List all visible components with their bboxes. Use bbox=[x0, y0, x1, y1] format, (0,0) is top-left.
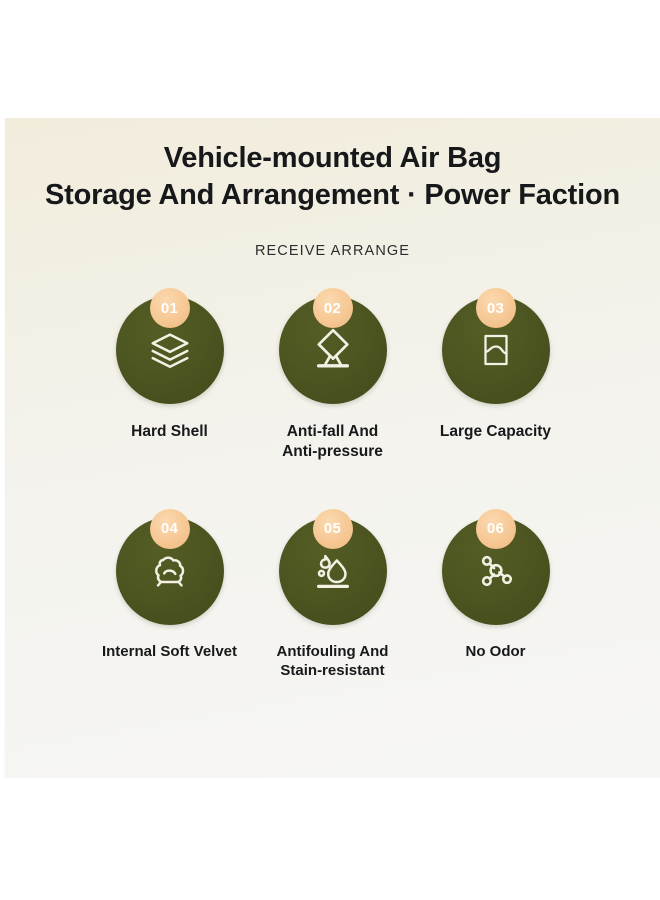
feature-row-1: 01 Hard Shell 02 bbox=[5, 288, 660, 461]
feature-caption: Anti-fall And Anti-pressure bbox=[243, 422, 423, 461]
feature-icon-wrap: 02 bbox=[279, 288, 387, 404]
feature-item-02: 02 Anti-fall And Anti-pressure bbox=[251, 288, 414, 461]
feature-item-04: 04 Internal Soft Velvet bbox=[88, 509, 251, 662]
feature-caption: No Odor bbox=[406, 643, 586, 662]
feature-icon-wrap: 03 bbox=[442, 288, 550, 404]
feature-number-badge: 04 bbox=[150, 509, 190, 549]
feature-number-badge: 01 bbox=[150, 288, 190, 328]
feature-number-badge: 05 bbox=[313, 509, 353, 549]
container-fill-level-icon bbox=[475, 329, 517, 371]
feature-row-2: 04 Internal Soft Velvet bbox=[5, 509, 660, 681]
feature-item-01: 01 Hard Shell bbox=[88, 288, 251, 441]
headline-line-2: Storage And Arrangement · Power Faction bbox=[5, 177, 660, 214]
feature-caption: Large Capacity bbox=[406, 422, 586, 441]
poster-headline: Vehicle-mounted Air Bag Storage And Arra… bbox=[5, 118, 660, 214]
layers-icon bbox=[147, 327, 193, 373]
feature-item-05: 05 Antifouling And Stain-resistant bbox=[251, 509, 414, 681]
molecule-icon bbox=[473, 548, 519, 594]
feature-icon-wrap: 04 bbox=[116, 509, 224, 625]
feature-number-badge: 03 bbox=[476, 288, 516, 328]
feature-grid: 01 Hard Shell 02 bbox=[5, 288, 660, 680]
feature-item-03: 03 Large Capacity bbox=[414, 288, 577, 441]
cloud-soft-icon bbox=[147, 548, 193, 594]
feature-caption: Hard Shell bbox=[80, 422, 260, 441]
feature-icon-wrap: 06 bbox=[442, 509, 550, 625]
headline-line-1: Vehicle-mounted Air Bag bbox=[5, 140, 660, 177]
diamond-on-stand-icon bbox=[310, 327, 356, 373]
feature-caption: Internal Soft Velvet bbox=[80, 643, 260, 662]
product-feature-poster: Vehicle-mounted Air Bag Storage And Arra… bbox=[3, 118, 660, 778]
feature-item-06: 06 No Odor bbox=[414, 509, 577, 662]
feature-number-badge: 02 bbox=[313, 288, 353, 328]
water-droplets-icon bbox=[310, 548, 356, 594]
feature-caption: Antifouling And Stain-resistant bbox=[243, 643, 423, 681]
feature-number-badge: 06 bbox=[476, 509, 516, 549]
feature-icon-wrap: 05 bbox=[279, 509, 387, 625]
poster-subtitle: RECEIVE ARRANGE bbox=[5, 243, 660, 259]
feature-icon-wrap: 01 bbox=[116, 288, 224, 404]
